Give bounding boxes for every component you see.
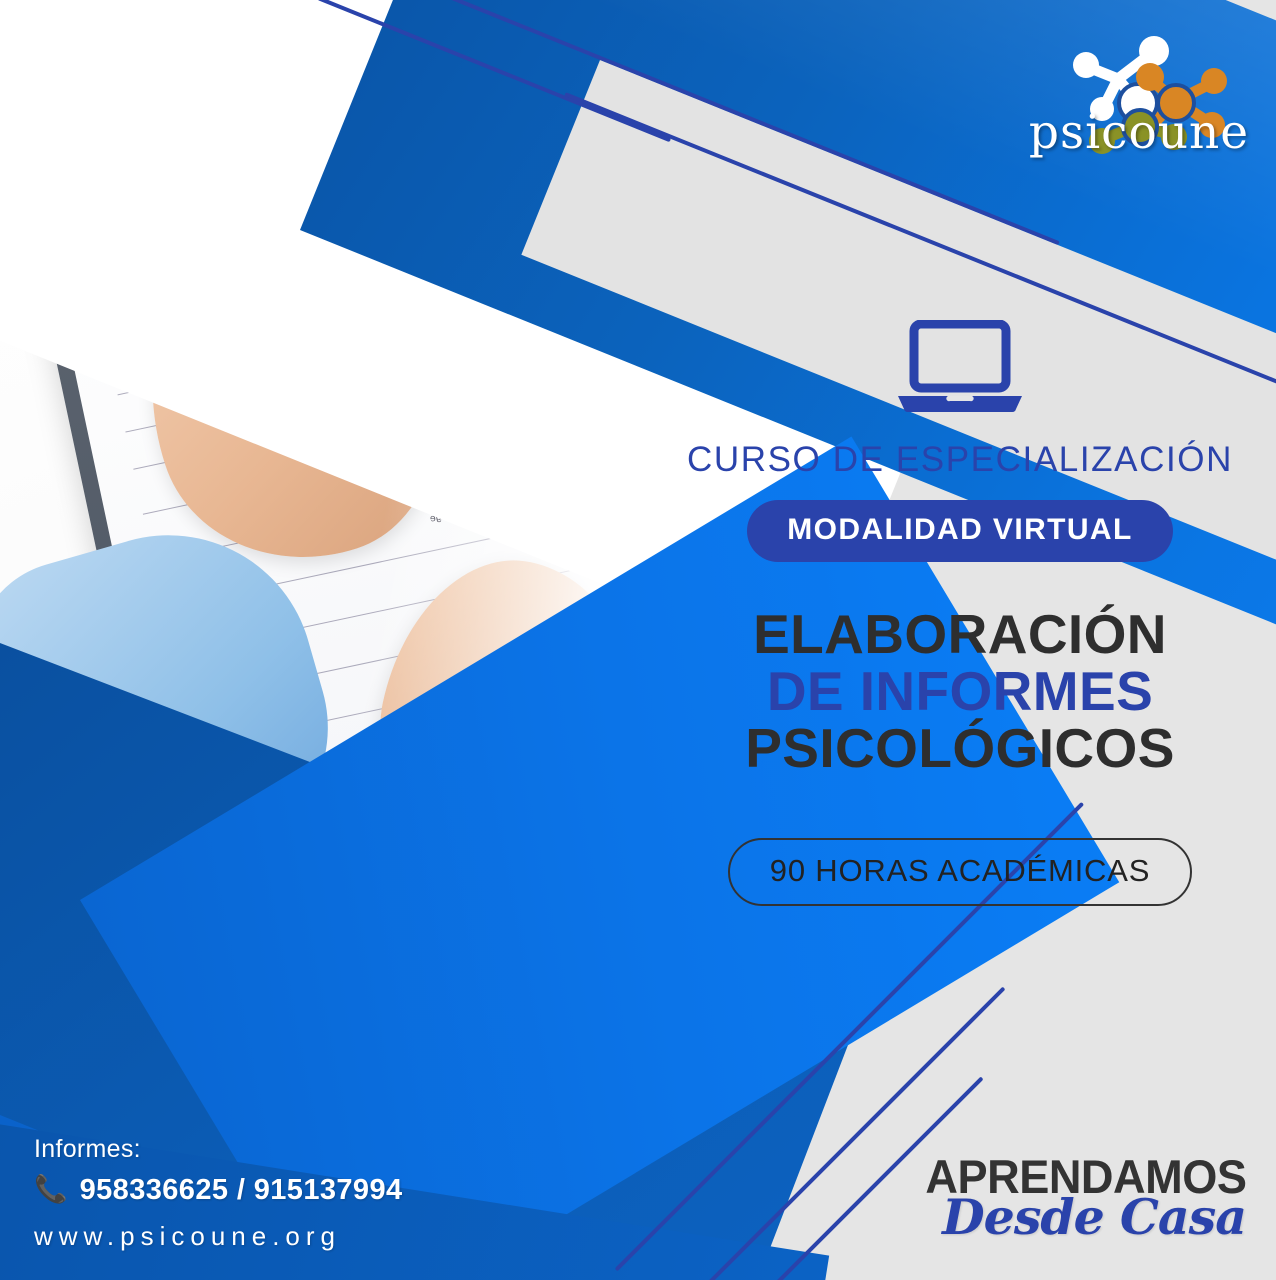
hours-badge: 90 HORAS ACADÉMICAS <box>728 838 1192 906</box>
contact-block: Informes: 📞 958336625 / 915137994 www.ps… <box>34 1135 403 1252</box>
course-title-line-1: ELABORACIÓN <box>660 606 1260 663</box>
brand-logo[interactable]: psicoune <box>1026 8 1258 166</box>
course-eyebrow: CURSO DE ESPECIALIZACIÓN <box>660 440 1260 480</box>
course-title-line-3: PSICOLÓGICOS <box>660 720 1260 777</box>
contact-website[interactable]: www.psicoune.org <box>34 1221 403 1252</box>
logo-wordmark: psicoune <box>1026 105 1252 160</box>
hours-badge-wrap: 90 HORAS ACADÉMICAS <box>660 778 1260 906</box>
slogan-line-1: APRENDAMOS <box>925 1149 1246 1204</box>
contact-phone-row[interactable]: 📞 958336625 / 915137994 <box>34 1174 403 1207</box>
promotional-poster: Medical card Name Date of birth Gender A… <box>0 0 1276 1280</box>
slogan-block: APRENDAMOS Desde Casa <box>912 1149 1246 1246</box>
course-info-block: CURSO DE ESPECIALIZACIÓN MODALIDAD VIRTU… <box>660 320 1260 906</box>
modality-badge: MODALIDAD VIRTUAL <box>747 500 1172 562</box>
modality-badge-wrap: MODALIDAD VIRTUAL <box>660 480 1260 562</box>
phone-icon: 📞 <box>34 1176 68 1203</box>
laptop-icon <box>896 320 1024 414</box>
course-title: ELABORACIÓN DE INFORMES PSICOLÓGICOS <box>660 606 1260 778</box>
course-title-line-2: DE INFORMES <box>660 663 1260 720</box>
contact-phone-numbers: 958336625 / 915137994 <box>80 1174 403 1207</box>
contact-label: Informes: <box>34 1135 403 1164</box>
